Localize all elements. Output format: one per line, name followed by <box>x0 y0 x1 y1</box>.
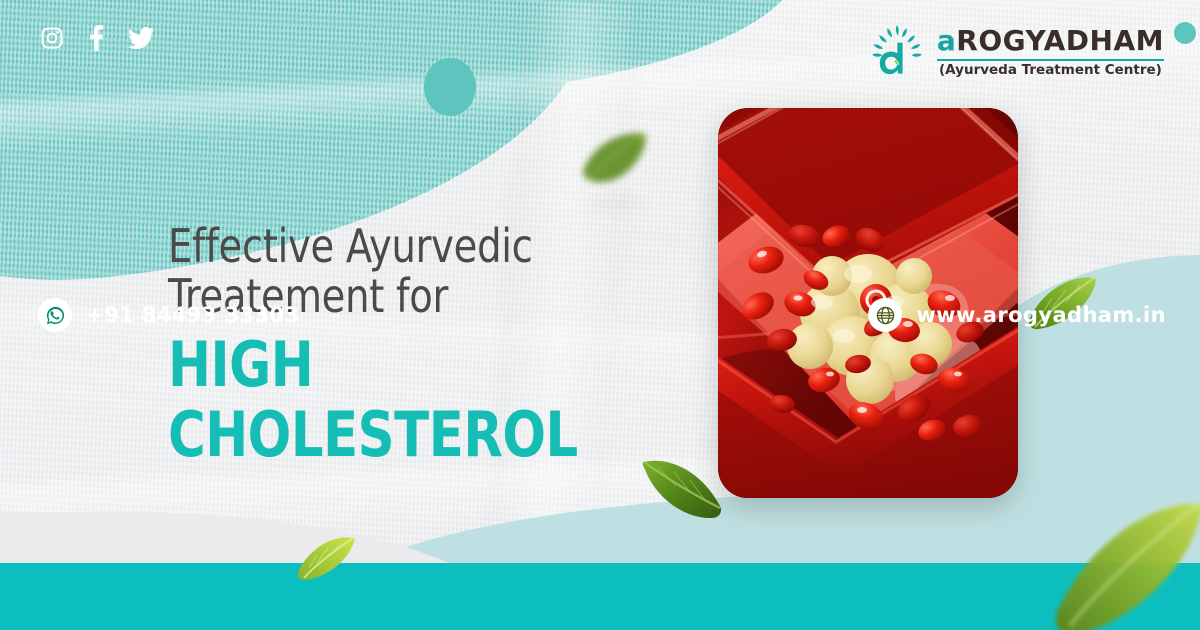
promo-banner: aROGYADHAM (Ayurveda Treatment Centre) E… <box>0 0 1200 630</box>
whatsapp-icon[interactable] <box>38 298 72 332</box>
footer-content: +91 84493 33303 www.arogyadham.in <box>0 0 1200 630</box>
footer-website-url: www.arogyadham.in <box>916 303 1166 327</box>
footer-website-item[interactable]: www.arogyadham.in <box>868 298 1166 332</box>
footer-phone-number: +91 84493 33303 <box>86 303 300 327</box>
globe-icon[interactable] <box>868 298 902 332</box>
footer-phone-item[interactable]: +91 84493 33303 <box>38 298 300 332</box>
